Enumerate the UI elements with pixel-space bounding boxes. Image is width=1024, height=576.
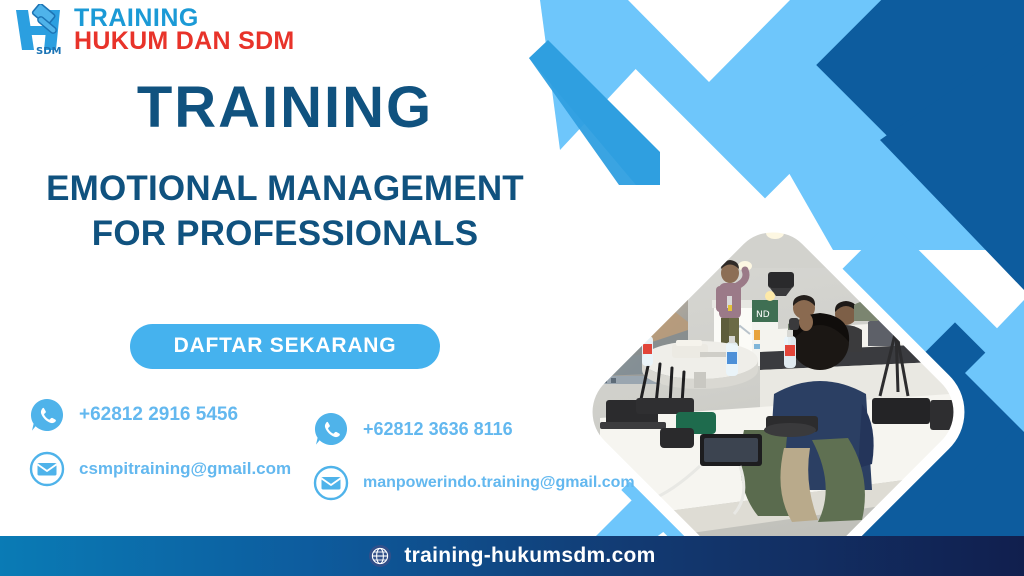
phone-number-2: +62812 3636 8116: [363, 419, 513, 440]
footer-bar: training-hukumsdm.com: [0, 536, 1024, 576]
phone-number-1: +62812 2916 5456: [79, 404, 238, 426]
headline-block: TRAINING EMOTIONAL MANAGEMENT FOR PROFES…: [0, 78, 570, 256]
website-url[interactable]: training-hukumsdm.com: [404, 544, 655, 568]
course-title-line-2: FOR PROFESSIONALS: [0, 212, 570, 257]
promotional-banner: ND: [0, 0, 1024, 576]
contact-phone-2[interactable]: +62812 3636 8116: [312, 410, 635, 448]
email-address-2: manpowerindo.training@gmail.com: [363, 474, 635, 492]
whatsapp-icon: [28, 396, 66, 434]
contact-phone-1[interactable]: +62812 2916 5456: [28, 396, 291, 434]
email-address-1: csmpitraining@gmail.com: [79, 459, 291, 479]
course-title-line-1: EMOTIONAL MANAGEMENT: [0, 167, 570, 212]
whatsapp-icon: [312, 410, 350, 448]
globe-icon: [368, 544, 392, 568]
contact-email-1[interactable]: csmpitraining@gmail.com: [28, 450, 291, 488]
logo-text-hukum-sdm: HUKUM DAN SDM: [74, 30, 295, 53]
contact-column-1: +62812 2916 5456 csmpitraining@gmail.com: [28, 396, 291, 488]
envelope-icon: [312, 464, 350, 502]
envelope-icon: [28, 450, 66, 488]
svg-text:SDM: SDM: [36, 46, 62, 56]
cta-container: DAFTAR SEKARANG: [0, 324, 570, 369]
contact-email-2[interactable]: manpowerindo.training@gmail.com: [312, 464, 635, 502]
brand-logo[interactable]: SDM TRAINING HUKUM DAN SDM: [14, 4, 295, 56]
contact-column-2: +62812 3636 8116 manpowerindo.training@g…: [312, 410, 635, 502]
svg-text:ND: ND: [756, 310, 770, 320]
gavel-h-logo-icon: SDM: [14, 4, 68, 56]
course-title: EMOTIONAL MANAGEMENT FOR PROFESSIONALS: [0, 167, 570, 257]
register-now-button[interactable]: DAFTAR SEKARANG: [130, 324, 441, 369]
eyebrow-training: TRAINING: [0, 78, 570, 139]
